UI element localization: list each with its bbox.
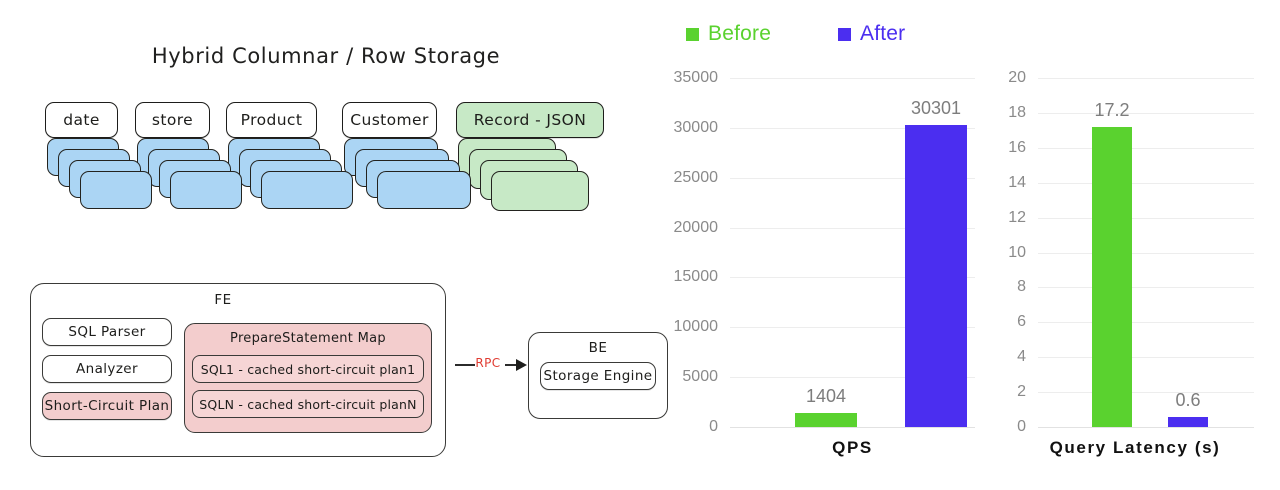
bar [905, 125, 967, 427]
y-axis-tick-label: 10 [998, 244, 1026, 262]
y-axis-tick-label: 25000 [664, 169, 718, 187]
legend-swatch-icon [838, 28, 851, 41]
rpc-arrow-icon [516, 359, 527, 371]
y-axis-tick-label: 12 [998, 209, 1026, 227]
y-axis-tick-label: 2 [998, 383, 1026, 401]
storage-column-chip: store [135, 102, 210, 138]
gridline [1038, 183, 1254, 184]
screenshot-root: Hybrid Columnar / Row Storage datestoreP… [0, 0, 1280, 490]
y-axis-tick-label: 14 [998, 174, 1026, 192]
y-axis-tick-label: 18 [998, 104, 1026, 122]
gridline [730, 78, 975, 79]
gridline [1038, 148, 1254, 149]
prepare-statement-map-title: PrepareStatement Map [184, 331, 432, 346]
storage-column-chip: date [45, 102, 118, 138]
storage-column-chip: Record - JSON [456, 102, 604, 138]
storage-column-chip: Product [226, 102, 317, 138]
axis-baseline [1038, 427, 1254, 428]
fe-component-box: SQL Parser [42, 318, 172, 346]
storage-card [170, 171, 242, 209]
bar [1168, 417, 1208, 427]
legend-label: Before [708, 22, 771, 46]
y-axis-tick-label: 0 [998, 418, 1026, 436]
y-axis-tick-label: 35000 [664, 69, 718, 87]
be-label: BE [528, 340, 668, 356]
gridline [1038, 287, 1254, 288]
axis-baseline [730, 427, 975, 428]
storage-card [261, 171, 353, 209]
bar [1092, 127, 1132, 427]
bar-data-label: 30301 [886, 98, 986, 119]
fe-label: FE [0, 292, 446, 308]
plot-area [1038, 78, 1254, 427]
storage-diagram-title: Hybrid Columnar / Row Storage [150, 44, 502, 68]
bar-data-label: 1404 [776, 386, 876, 407]
gridline [1038, 218, 1254, 219]
bar-data-label: 0.6 [1138, 390, 1238, 411]
storage-engine-box: Storage Engine [540, 362, 656, 390]
prepare-statement-entry: SQLN - cached short-circuit planN [192, 390, 424, 418]
storage-card [80, 171, 152, 209]
legend-item: Before [686, 22, 771, 46]
storage-column-chip: Customer [342, 102, 437, 138]
y-axis-tick-label: 0 [664, 418, 718, 436]
chart-x-axis-title: QPS [730, 438, 975, 458]
storage-card [377, 171, 471, 209]
chart-x-axis-title: Query Latency (s) [1010, 438, 1260, 458]
prepare-statement-entry: SQL1 - cached short-circuit plan1 [192, 355, 424, 383]
legend-label: After [860, 22, 905, 46]
y-axis-tick-label: 20 [998, 69, 1026, 87]
diagram-pane: Hybrid Columnar / Row Storage datestoreP… [0, 0, 672, 490]
gridline [1038, 253, 1254, 254]
gridline [1038, 357, 1254, 358]
y-axis-tick-label: 10000 [664, 318, 718, 336]
y-axis-tick-label: 16 [998, 139, 1026, 157]
y-axis-tick-label: 30000 [664, 119, 718, 137]
y-axis-tick-label: 8 [998, 278, 1026, 296]
legend-item: After [838, 22, 905, 46]
charts-pane: BeforeAfter 0500010000150002000025000300… [672, 0, 1280, 490]
legend-swatch-icon [686, 28, 699, 41]
gridline [1038, 78, 1254, 79]
storage-card [491, 171, 589, 211]
plot-area [730, 78, 975, 427]
fe-component-box: Analyzer [42, 355, 172, 383]
y-axis-tick-label: 20000 [664, 219, 718, 237]
rpc-label: RPC [470, 356, 506, 370]
fe-component-box: Short-Circuit Plan [42, 392, 172, 420]
bar-data-label: 17.2 [1062, 100, 1162, 121]
y-axis-tick-label: 5000 [664, 368, 718, 386]
gridline [1038, 322, 1254, 323]
y-axis-tick-label: 15000 [664, 268, 718, 286]
y-axis-tick-label: 4 [998, 348, 1026, 366]
y-axis-tick-label: 6 [998, 313, 1026, 331]
bar [795, 413, 857, 427]
